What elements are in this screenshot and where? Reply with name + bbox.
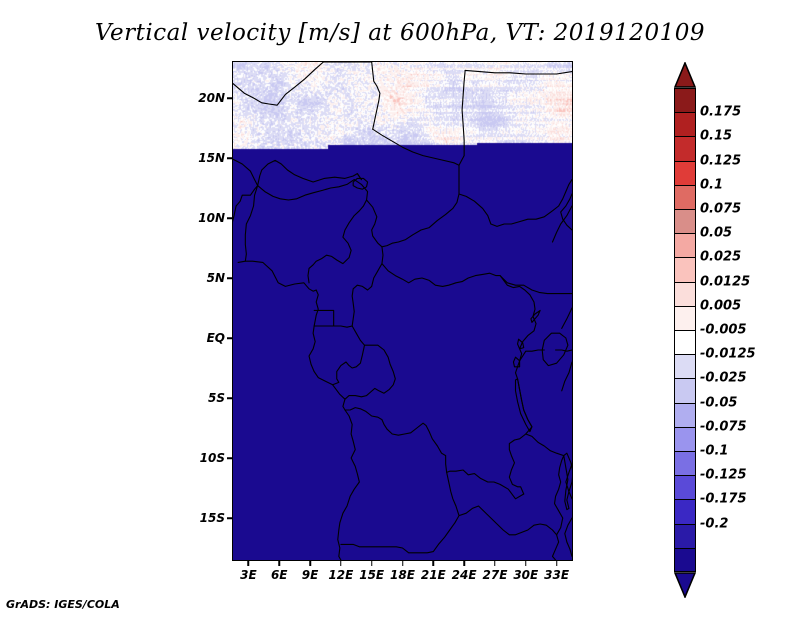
geo-boundary: [333, 326, 365, 385]
y-axis-tick: [227, 157, 232, 159]
y-axis-label: EQ: [207, 331, 225, 345]
geo-boundary: [372, 62, 380, 129]
geo-boundary: [531, 310, 540, 322]
page-title: Vertical velocity [m/s] at 600hPa, VT: 2…: [0, 20, 800, 46]
x-axis-tick: [433, 561, 435, 566]
colorbar-band: [674, 475, 696, 499]
y-axis-label: 15S: [200, 511, 225, 525]
geo-boundary: [516, 379, 532, 432]
x-axis-tick: [556, 561, 558, 566]
x-axis-tick: [525, 561, 527, 566]
colorbar-band: [674, 548, 696, 572]
geo-boundary: [373, 129, 459, 165]
geo-boundary: [556, 350, 572, 351]
colorbar-band: [674, 209, 696, 233]
geo-boundary: [245, 186, 257, 262]
geo-boundary: [459, 70, 465, 165]
geo-boundary: [459, 180, 572, 227]
y-axis-tick: [227, 97, 232, 99]
colorbar-tick-label: -0.025: [700, 371, 747, 386]
colorbar-tick-label: -0.075: [700, 419, 747, 434]
x-axis-tick: [309, 561, 311, 566]
y-axis-tick: [227, 217, 232, 219]
colorbar-band: [674, 378, 696, 402]
x-axis-tick: [278, 561, 280, 566]
geo-boundary: [233, 159, 361, 185]
y-axis-label: 20N: [198, 91, 225, 105]
x-axis-label: 9E: [302, 568, 319, 582]
y-axis-tick: [227, 277, 232, 279]
y-axis-label: 5S: [208, 391, 225, 405]
y-axis-tick: [227, 397, 232, 399]
geo-boundary: [565, 518, 572, 556]
y-axis-label: 10S: [200, 451, 225, 465]
geo-boundary: [233, 62, 323, 105]
colorbar-band: [674, 161, 696, 185]
colorbar-band: [674, 499, 696, 523]
colorbar-max-arrow: [674, 62, 696, 88]
colorbar-tick-label: 0.025: [700, 250, 741, 265]
colorbar-band: [674, 403, 696, 427]
colorbar-tick-label: -0.175: [700, 492, 747, 507]
geo-boundary: [562, 362, 572, 391]
x-axis-tick: [371, 561, 373, 566]
x-axis-tick: [248, 561, 250, 566]
colorbar-band: [674, 306, 696, 330]
y-axis-tick: [227, 337, 232, 339]
geo-boundary: [345, 408, 524, 499]
geo-boundary: [552, 206, 572, 242]
geo-boundary: [367, 165, 459, 247]
colorbar-tick-label: 0.005: [700, 298, 741, 313]
colorbar-band: [674, 427, 696, 451]
x-axis-label: 24E: [452, 568, 477, 582]
colorbar-tick-label: -0.125: [700, 468, 747, 483]
geo-boundary: [509, 361, 532, 494]
colorbar-tick-label: -0.005: [700, 323, 747, 338]
map-plot-area: [233, 62, 572, 560]
geo-boundary: [345, 345, 395, 399]
grads-attribution: GrADS: IGES/COLA: [6, 598, 120, 611]
geo-boundary: [308, 180, 368, 283]
y-axis-tick: [227, 517, 232, 519]
x-axis-label: 21E: [421, 568, 446, 582]
x-axis-label: 15E: [359, 568, 384, 582]
colorbar-tick-label: 0.15: [700, 129, 732, 144]
geo-boundary: [341, 472, 459, 552]
x-axis-label: 6E: [271, 568, 288, 582]
colorbar-band: [674, 112, 696, 136]
geo-boundary: [258, 180, 355, 200]
x-axis-tick: [463, 561, 465, 566]
x-axis-tick: [402, 561, 404, 566]
colorbar-band: [674, 330, 696, 354]
x-axis-label: 18E: [390, 568, 415, 582]
colorbar-tick-label: 0.175: [700, 105, 741, 120]
colorbar-band: [674, 136, 696, 160]
colorbar-band: [674, 257, 696, 281]
x-axis-label: 30E: [513, 568, 538, 582]
x-axis-tick: [494, 561, 496, 566]
x-axis-label: 27E: [483, 568, 508, 582]
geo-boundary: [238, 261, 359, 560]
y-axis-label: 5N: [207, 271, 225, 285]
y-axis-label: 15N: [198, 151, 225, 165]
geo-boundary: [542, 333, 568, 365]
colorbar-band: [674, 185, 696, 209]
x-axis-label: 3E: [240, 568, 257, 582]
colorbar-band: [674, 354, 696, 378]
colorbar-tick-label: 0.075: [700, 202, 741, 217]
colorbar-band: [674, 233, 696, 257]
geo-boundary: [555, 456, 564, 535]
colorbar-tick-label: 0.05: [700, 226, 732, 241]
geo-boundary: [564, 453, 572, 509]
colorbar-tick-label: -0.2: [700, 516, 728, 531]
x-axis-label: 33E: [544, 568, 569, 582]
geo-boundary: [562, 308, 572, 328]
colorbar-band: [674, 451, 696, 475]
y-axis-label: 10N: [198, 211, 225, 225]
geo-boundary: [459, 506, 559, 560]
x-axis-tick: [340, 561, 342, 566]
geo-boundary: [465, 70, 572, 74]
colorbar-tick-label: -0.1: [700, 444, 728, 459]
geo-boundary: [526, 434, 564, 456]
y-axis-tick: [227, 457, 232, 459]
country-borders-overlay: [233, 62, 572, 560]
geo-boundary: [500, 276, 536, 361]
colorbar-band: [674, 88, 696, 112]
x-axis-label: 12E: [328, 568, 353, 582]
colorbar-tick-label: -0.0125: [700, 347, 756, 362]
colorbar-min-arrow: [674, 572, 696, 598]
colorbar-tick-label: 0.1: [700, 177, 723, 192]
geo-boundary: [233, 206, 236, 265]
colorbar-band: [674, 524, 696, 548]
geo-boundary: [382, 264, 500, 287]
colorbar-band: [674, 282, 696, 306]
geo-boundary: [500, 276, 572, 294]
geo-boundary: [520, 350, 545, 361]
colorbar-tick-label: 0.0125: [700, 274, 750, 289]
colorbar-tick-label: -0.05: [700, 395, 737, 410]
colorbar-tick-label: 0.125: [700, 153, 741, 168]
